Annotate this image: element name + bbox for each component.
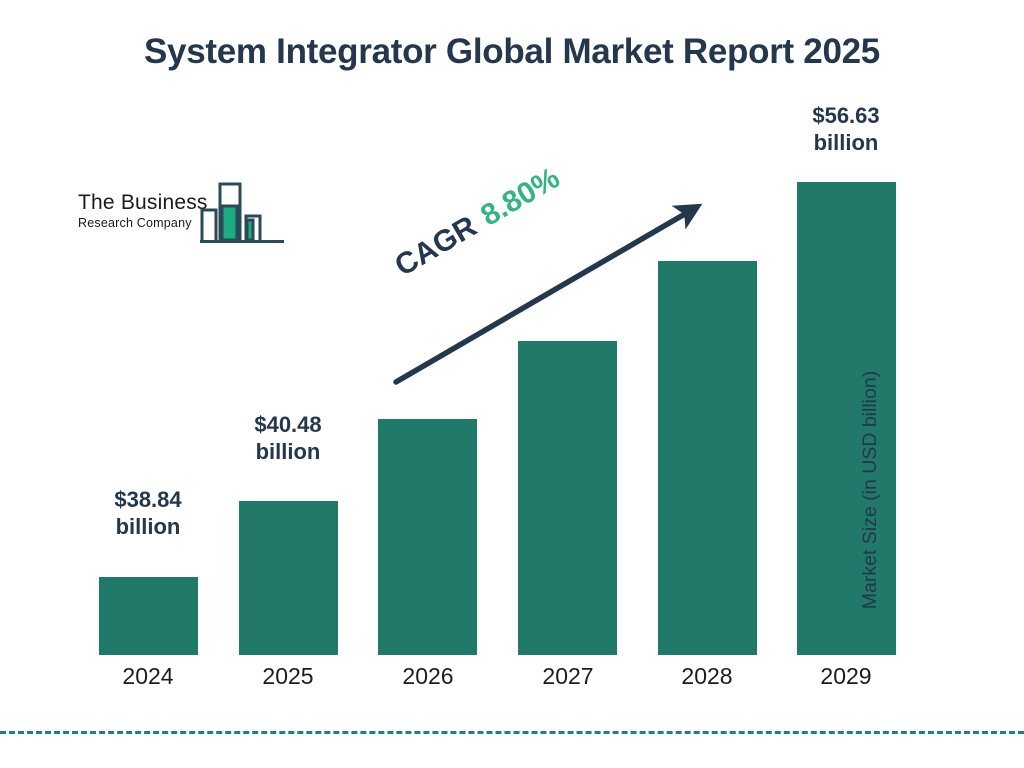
bar-value-2025-unit: billion <box>208 439 368 466</box>
bar-value-2025-amount: $40.48 <box>208 412 368 439</box>
x-tick-2028: 2028 <box>627 663 787 690</box>
x-tick-2029: 2029 <box>766 663 926 690</box>
x-tick-2024: 2024 <box>68 663 228 690</box>
bar-value-2024-amount: $38.84 <box>68 487 228 514</box>
bar-value-2024: $38.84 billion <box>68 487 228 541</box>
x-tick-2025: 2025 <box>208 663 368 690</box>
bar-value-2029: $56.63 billion <box>766 103 926 157</box>
growth-arrow-icon <box>380 190 720 395</box>
bar-value-2024-unit: billion <box>68 514 228 541</box>
chart-page: System Integrator Global Market Report 2… <box>0 0 1024 768</box>
bar-2026 <box>378 419 477 655</box>
bar-value-2029-amount: $56.63 <box>766 103 926 130</box>
x-tick-2027: 2027 <box>488 663 648 690</box>
y-axis-title: Market Size (in USD billion) <box>859 330 882 650</box>
plot-area: $38.84 billion $40.48 billion $56.63 bil… <box>0 0 1024 768</box>
bar-value-2029-unit: billion <box>766 130 926 157</box>
footer-divider <box>0 731 1024 734</box>
bar-2025 <box>239 501 338 655</box>
bar-value-2025: $40.48 billion <box>208 412 368 466</box>
x-tick-2026: 2026 <box>348 663 508 690</box>
bar-2024 <box>99 577 198 655</box>
